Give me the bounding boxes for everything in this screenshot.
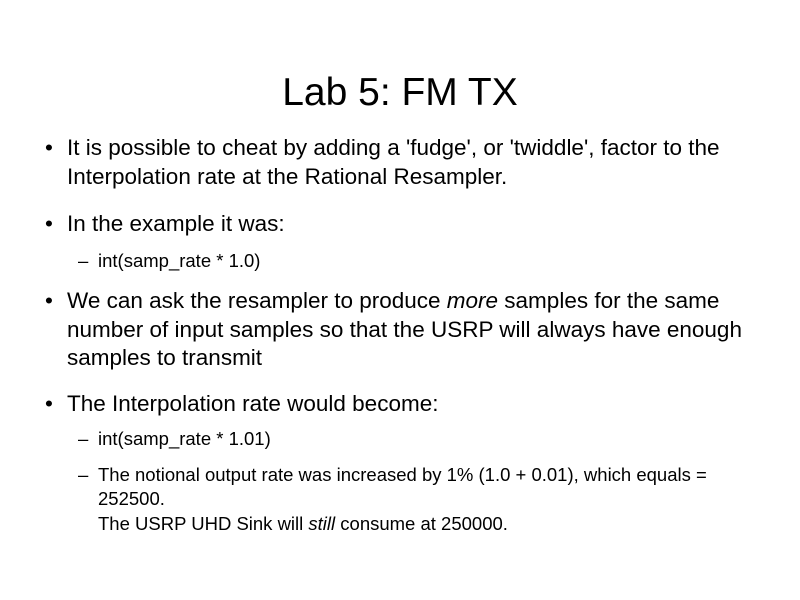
spacer (40, 373, 760, 390)
bullet-text: In the example it was: (67, 210, 760, 239)
subbullet-text: int(samp_rate * 1.01) (98, 427, 760, 452)
subbullet-notional-output-rate: – The notional output rate was increased… (40, 463, 760, 537)
page-title: Lab 5: FM TX (0, 70, 800, 116)
bullet-marker-icon: • (45, 210, 53, 239)
bullet-marker-icon: • (45, 287, 53, 316)
bullet-text: The Interpolation rate would become: (67, 390, 760, 419)
subbullet-line2-part1: The USRP UHD Sink will (98, 513, 308, 534)
dash-marker-icon: – (78, 463, 88, 488)
bullet-text-part1: We can ask the resampler to produce (67, 288, 447, 313)
bullet-in-the-example: • In the example it was: (40, 210, 760, 239)
bullet-marker-icon: • (45, 390, 53, 419)
bullet-more-samples: • We can ask the resampler to produce mo… (40, 287, 760, 373)
bullet-text-emphasis: more (447, 288, 498, 313)
subbullet-line1: The notional output rate was increased b… (98, 464, 707, 510)
slide: Lab 5: FM TX • It is possible to cheat b… (0, 0, 800, 600)
spacer (40, 452, 760, 463)
spacer (40, 418, 760, 427)
bullet-fudge-factor: • It is possible to cheat by adding a 'f… (40, 134, 760, 191)
bullet-interpolation-rate-become: • The Interpolation rate would become: (40, 390, 760, 419)
subbullet-line2-emphasis: still (308, 513, 335, 534)
subbullet-int-samp-rate-1-01: – int(samp_rate * 1.01) (40, 427, 760, 452)
subbullet-text: The notional output rate was increased b… (98, 463, 760, 537)
subbullet-int-samp-rate-1-0: – int(samp_rate * 1.0) (40, 249, 760, 274)
spacer (40, 239, 760, 249)
subbullet-text: int(samp_rate * 1.0) (98, 249, 760, 274)
dash-marker-icon: – (78, 427, 88, 452)
spacer (40, 191, 760, 210)
dash-marker-icon: – (78, 249, 88, 274)
subbullet-line2-part2: consume at 250000. (335, 513, 508, 534)
bullet-text: It is possible to cheat by adding a 'fud… (67, 134, 760, 191)
spacer (40, 273, 760, 287)
slide-body: • It is possible to cheat by adding a 'f… (40, 134, 760, 536)
bullet-marker-icon: • (45, 134, 53, 163)
bullet-text: We can ask the resampler to produce more… (67, 287, 760, 373)
